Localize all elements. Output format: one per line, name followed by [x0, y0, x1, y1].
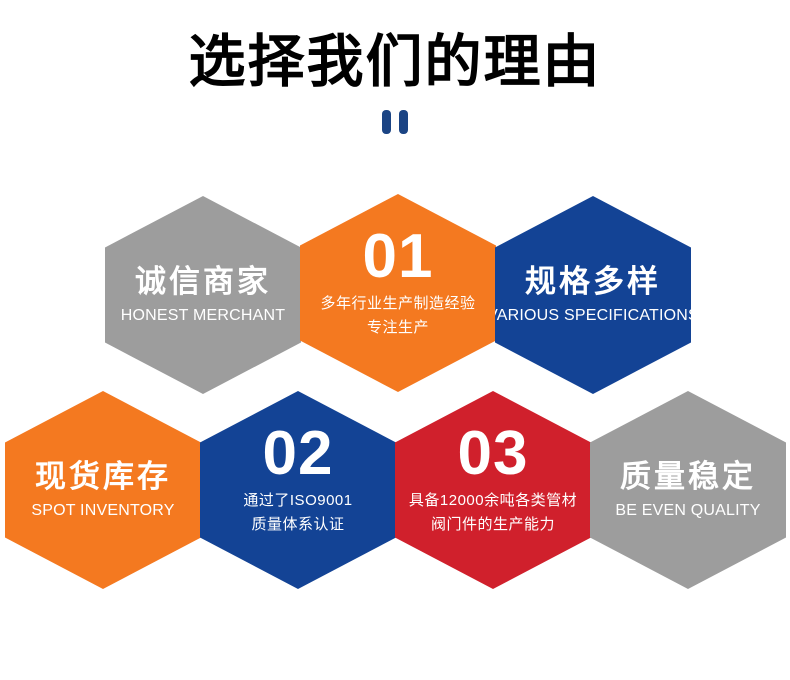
hex-en-subtitle: VARIOUS SPECIFICATIONS — [487, 305, 699, 327]
hex-card-spot-inventory[interactable]: 现货库存 SPOT INVENTORY — [5, 391, 201, 589]
hex-card-03[interactable]: 03 具备12000余吨各类管材 阀门件的生产能力 — [395, 391, 591, 589]
hex-number: 03 — [458, 421, 529, 487]
hex-row-bottom: 现货库存 SPOT INVENTORY 02 通过了ISO9001 质量体系认证… — [5, 391, 786, 591]
hex-cn-title: 诚信商家 — [135, 263, 271, 301]
hex-card-be-even-quality[interactable]: 质量稳定 BE EVEN QUALITY — [590, 391, 786, 589]
hex-card-various-specifications[interactable]: 规格多样 VARIOUS SPECIFICATIONS — [495, 196, 691, 394]
hex-description: 通过了ISO9001 质量体系认证 — [243, 489, 352, 537]
hex-row-top: 诚信商家 HONEST MERCHANT 01 多年行业生产制造经验 专注生产 … — [105, 194, 691, 394]
hex-cn-title: 质量稳定 — [620, 458, 756, 496]
hex-number: 02 — [263, 421, 334, 487]
hex-number: 01 — [363, 224, 434, 290]
banner-header: 选择我们的理由 — [0, 0, 790, 134]
hex-desc-line-1: 通过了ISO9001 — [243, 489, 352, 513]
hex-cn-title: 现货库存 — [35, 458, 171, 496]
hex-cn-title: 规格多样 — [525, 263, 661, 301]
hex-desc-line-1: 多年行业生产制造经验 — [320, 292, 475, 316]
hex-en-subtitle: BE EVEN QUALITY — [615, 500, 760, 522]
divider-bar-left — [382, 110, 391, 134]
hex-card-honest-merchant[interactable]: 诚信商家 HONEST MERCHANT — [105, 196, 301, 394]
hex-description: 具备12000余吨各类管材 阀门件的生产能力 — [409, 489, 577, 537]
hex-en-subtitle: SPOT INVENTORY — [31, 500, 174, 522]
divider-bar-right — [399, 110, 408, 134]
hex-desc-line-2: 阀门件的生产能力 — [409, 513, 577, 537]
hex-desc-line-2: 专注生产 — [320, 316, 475, 340]
hex-card-01[interactable]: 01 多年行业生产制造经验 专注生产 — [300, 194, 496, 392]
hex-desc-line-1: 具备12000余吨各类管材 — [409, 489, 577, 513]
page-title: 选择我们的理由 — [0, 0, 790, 96]
promo-banner: 选择我们的理由 诚信商家 HONEST MERCHANT 01 多年行业生产制造… — [0, 0, 790, 680]
title-divider-icon — [382, 110, 408, 134]
hex-card-02[interactable]: 02 通过了ISO9001 质量体系认证 — [200, 391, 396, 589]
hex-en-subtitle: HONEST MERCHANT — [121, 305, 286, 327]
hex-description: 多年行业生产制造经验 专注生产 — [320, 292, 475, 340]
hex-desc-line-2: 质量体系认证 — [243, 513, 352, 537]
